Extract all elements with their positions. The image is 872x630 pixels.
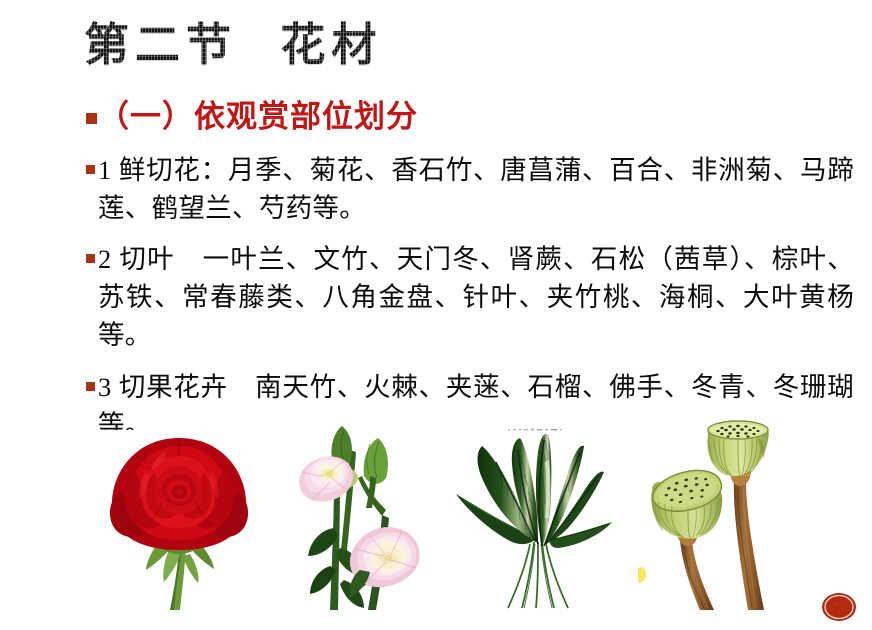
list-item-text: 2 切叶 一叶兰、文竹、天门冬、肾蕨、石松（茜草）、棕叶、苏铁、常春藤类、八角金… (98, 240, 854, 354)
square-bullet-icon (86, 165, 95, 174)
aspidistra-leaf-photo (450, 422, 628, 610)
lotus-seedpod-photo (634, 418, 804, 610)
square-bullet-icon (86, 254, 95, 263)
pink-lisianthus-photo (282, 420, 442, 610)
list-item-text: 1 鲜切花：月季、菊花、香石竹、唐菖蒲、百合、非洲菊、马蹄莲、鹤望兰、芍药等。 (98, 151, 854, 227)
slide-canvas: 第二节 花材 （一）依观赏部位划分 1 鲜切花：月季、菊花、香石竹、唐菖蒲、百合… (0, 0, 872, 630)
red-circle-seal[interactable] (821, 592, 857, 622)
list-item: 1 鲜切花：月季、菊花、香石竹、唐菖蒲、百合、非洲菊、马蹄莲、鹤望兰、芍药等。 (0, 151, 872, 227)
square-bullet-icon (86, 113, 97, 124)
section-heading-text: （一）依观赏部位划分 (98, 98, 854, 137)
red-rose-photo (102, 430, 258, 610)
list-item: 2 切叶 一叶兰、文竹、天门冬、肾蕨、石松（茜草）、棕叶、苏铁、常春藤类、八角金… (0, 240, 872, 354)
content-body: （一）依观赏部位划分 1 鲜切花：月季、菊花、香石竹、唐菖蒲、百合、非洲菊、马蹄… (0, 98, 872, 457)
square-bullet-icon (86, 382, 95, 391)
photo-strip (0, 418, 872, 610)
page-title: 第二节 花材 (84, 18, 382, 72)
section-heading-row: （一）依观赏部位划分 (0, 98, 872, 137)
